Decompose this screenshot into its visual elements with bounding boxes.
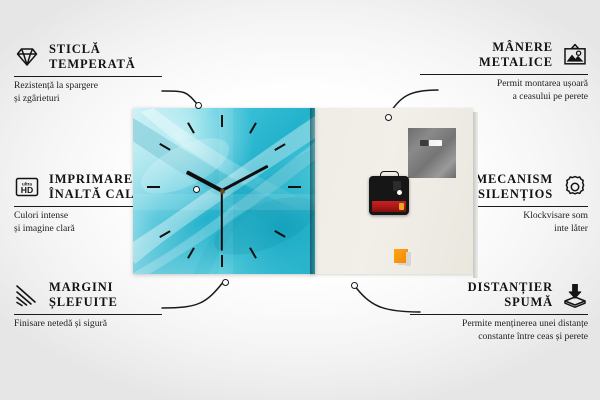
- divider: [410, 314, 588, 315]
- callout-dot-metal-handles: [385, 114, 392, 121]
- hour-marker: [147, 186, 160, 188]
- battery: [372, 201, 406, 212]
- ultra-hd-icon: ultra HD: [14, 174, 40, 200]
- glass-edge-shadow: [310, 108, 315, 274]
- metal-hanger-plate: [408, 128, 456, 178]
- hanger-slot: [420, 140, 442, 146]
- hour-marker: [221, 255, 223, 267]
- hanging-picture-frame-icon: [562, 42, 588, 68]
- feature-metal-handles: MÂNERE METALICE Permit montarea ușoară a…: [412, 40, 588, 103]
- movement-lug: [380, 171, 399, 179]
- callout-dot-polished-edges: [222, 279, 229, 286]
- product-feature-infographic: STICLĂ TEMPERATĂ Rezistență la spargere …: [0, 0, 600, 400]
- feature-subtitle: Permite menținerea unei distanțe constan…: [404, 318, 588, 344]
- diagonal-lines-icon: [14, 282, 40, 308]
- feature-title: MECANISM SILENȚIOS: [475, 172, 553, 203]
- divider: [14, 314, 162, 315]
- feature-polished-edges: MARGINI ȘLEFUITE Finisare netedă și sigu…: [14, 280, 174, 331]
- product-photo: [133, 108, 473, 276]
- hand-hub: [220, 189, 225, 194]
- svg-text:HD: HD: [21, 185, 33, 195]
- feature-title: STICLĂ TEMPERATĂ: [49, 42, 136, 73]
- diamond-icon: [14, 44, 40, 70]
- feature-header: STICLĂ TEMPERATĂ: [14, 42, 174, 73]
- hour-marker: [288, 186, 301, 188]
- hour-marker: [221, 115, 223, 127]
- feature-header: MARGINI ȘLEFUITE: [14, 280, 174, 311]
- feature-title: MARGINI ȘLEFUITE: [49, 280, 118, 311]
- clock-back-panel: [310, 108, 473, 274]
- divider: [420, 74, 588, 75]
- feature-foam-spacer: DISTANȚIER SPUMĂ Permite menținerea unei…: [404, 280, 588, 343]
- feature-header: DISTANȚIER SPUMĂ: [404, 280, 588, 311]
- quartz-movement: [369, 176, 409, 215]
- feature-title: DISTANȚIER SPUMĂ: [468, 280, 553, 311]
- feature-title: MÂNERE METALICE: [479, 40, 553, 71]
- press-down-arrow-icon: [562, 282, 588, 308]
- foam-spacer-pad: [394, 249, 408, 263]
- second-hand: [221, 191, 223, 251]
- feature-tempered-glass: STICLĂ TEMPERATĂ Rezistență la spargere …: [14, 42, 174, 105]
- feature-subtitle: Rezistență la spargere și zgârieturi: [14, 80, 174, 106]
- callout-dot-high-quality-print: [193, 186, 200, 193]
- callout-dot-tempered-glass: [195, 102, 202, 109]
- divider: [14, 76, 162, 77]
- callout-dot-foam-spacer: [351, 282, 358, 289]
- callout-dot-silent-mechanism: [396, 189, 403, 196]
- feature-subtitle: Permit montarea ușoară a ceasului pe per…: [412, 78, 588, 104]
- feature-subtitle: Finisare netedă și sigură: [14, 318, 174, 331]
- gear-icon: [562, 174, 588, 200]
- clock-face: [133, 108, 315, 274]
- feature-header: MÂNERE METALICE: [412, 40, 588, 71]
